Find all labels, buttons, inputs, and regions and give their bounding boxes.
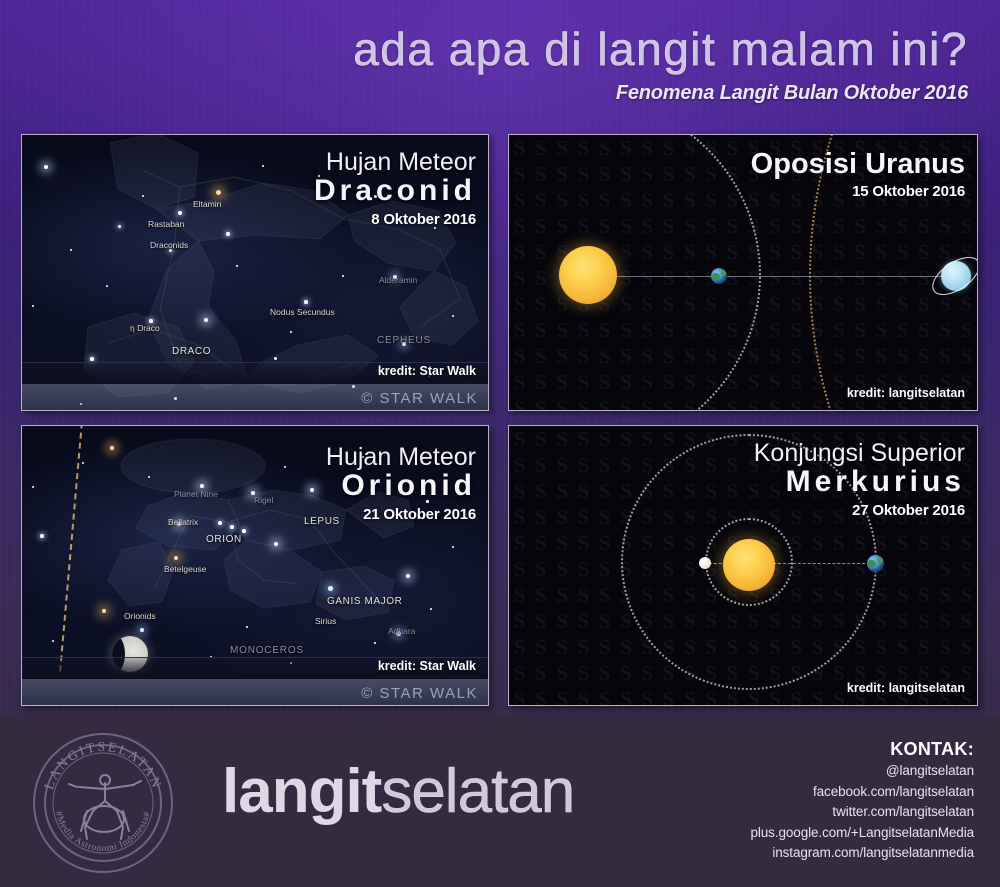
langitselatan-logo[interactable]: LANGITSELATAN #Media Astronomi Indonesia… (33, 733, 173, 873)
star (430, 608, 432, 610)
watermark-s: S (594, 426, 615, 452)
watermark-s: S (615, 426, 636, 452)
star (90, 357, 94, 361)
watermark-s: S (871, 634, 892, 660)
watermark-s: S (509, 634, 530, 660)
watermark-s: S (786, 239, 807, 265)
contact-link-instagram-handle[interactable]: @langitselatan (750, 761, 974, 782)
star-betelgeuse (174, 556, 178, 560)
star (406, 574, 410, 578)
wordmark-light: selatan (381, 757, 574, 826)
earth (711, 268, 727, 284)
watermark-s: S (552, 634, 573, 660)
label-orionids: Orionids (124, 611, 156, 621)
star (40, 534, 44, 538)
watermark-s: S (786, 317, 807, 343)
watermark-s: S (956, 556, 977, 582)
label-draconids: Draconids (150, 240, 188, 250)
star (44, 165, 48, 169)
star-lepus (310, 488, 314, 492)
watermark-s: S (786, 291, 807, 317)
watermark-s: S (573, 478, 594, 504)
mercury (699, 557, 711, 569)
watermark-s: S (786, 369, 807, 395)
panel-uranus-heading: Oposisi Uranus 15 Oktober 2016 (751, 149, 965, 204)
watermark-s: S (764, 265, 785, 291)
star (106, 285, 108, 287)
star (290, 331, 292, 333)
panel-draconid-date: 8 Oktober 2016 (314, 208, 476, 232)
panel-merkurius-kind: Konjungsi Superior (754, 440, 965, 466)
star (102, 609, 106, 613)
watermark-s: S (807, 686, 828, 705)
watermark-s: S (956, 582, 977, 608)
watermark-s: S (573, 452, 594, 478)
label-cepheus: CEPHEUS (377, 335, 431, 346)
watermark-s: S (594, 556, 615, 582)
watermark-s: S (934, 530, 955, 556)
star-eta-draco (149, 319, 153, 323)
watermark-s: S (913, 556, 934, 582)
brand-wordmark: langitselatan (222, 761, 574, 823)
label-betelgeuse: Betelgeuse (164, 564, 207, 574)
panel-draconid-credit: kredit: Star Walk (378, 364, 476, 378)
watermark-s: S (530, 426, 551, 452)
watermark-s: S (786, 395, 807, 410)
panel-orionid-heading: Hujan Meteor Orionid 21 Oktober 2016 (326, 444, 476, 527)
watermark-s: S (552, 452, 573, 478)
watermark-s: S (509, 530, 530, 556)
watermark-s: S (764, 343, 785, 369)
watermark-s: S (594, 504, 615, 530)
label-monoceros: MONOCEROS (230, 645, 304, 656)
watermark-s: S (637, 686, 658, 705)
watermark-s: S (679, 686, 700, 705)
watermark-s: S (509, 504, 530, 530)
watermark-s: S (892, 556, 913, 582)
watermark-s: S (530, 660, 551, 686)
watermark-s: S (764, 213, 785, 239)
watermark-s: S (573, 634, 594, 660)
watermark-s: S (871, 608, 892, 634)
star-rastaban (178, 211, 182, 215)
star-eltamin (216, 190, 221, 195)
watermark-s: S (786, 686, 807, 705)
contact-link-facebook[interactable]: facebook.com/langitselatan (750, 782, 974, 803)
watermark-s: S (509, 608, 530, 634)
page-subtitle: Fenomena Langit Bulan Oktober 2016 (616, 82, 968, 105)
panel-orionid[interactable]: Planet Nine Bellatrix Rigel LEPUS ORION … (21, 425, 489, 706)
earth (867, 555, 884, 572)
star-orion-belt (242, 529, 246, 533)
watermark-s: S (573, 556, 594, 582)
watermark-s: S (530, 608, 551, 634)
star (374, 642, 376, 644)
watermark-s: S (530, 504, 551, 530)
star (52, 640, 54, 642)
star (32, 305, 34, 307)
watermark-s: S (764, 291, 785, 317)
watermark-s: S (722, 135, 743, 161)
watermark-s: S (913, 582, 934, 608)
watermark-s: S (573, 530, 594, 556)
star (246, 626, 248, 628)
watermark-s: S (934, 608, 955, 634)
panel-orionid-kind: Hujan Meteor (326, 444, 476, 470)
label-nodus-secundus: Nodus Secundus (270, 307, 335, 317)
poster-header: ada apa di langit malam ini? Fenomena La… (0, 0, 1000, 122)
watermark-s: S (658, 686, 679, 705)
watermark-s: S (552, 608, 573, 634)
watermark-s: S (764, 395, 785, 410)
star (70, 249, 72, 251)
panel-draconid-name: Draconid (314, 175, 476, 207)
star-nodus-secundus (304, 300, 308, 304)
watermark-s: S (573, 686, 594, 705)
label-adhara: Adhara (388, 626, 415, 636)
label-rastaban: Rastaban (148, 219, 184, 229)
panel-draconid[interactable]: Eltamin Rastaban Draconids η Draco DRACO… (21, 134, 489, 411)
starwalk-watermark: © STAR WALK (361, 390, 478, 407)
panel-uranus-credit: kredit: langitselatan (847, 386, 965, 400)
panel-merkurius-credit: kredit: langitselatan (847, 681, 965, 695)
watermark-s: S (552, 582, 573, 608)
star (148, 476, 150, 478)
watermark-s: S (934, 582, 955, 608)
contact-link-twitter[interactable]: twitter.com/langitselatan (750, 802, 974, 823)
watermark-s: S (530, 478, 551, 504)
star (236, 265, 238, 267)
watermark-s: S (552, 478, 573, 504)
watermark-s: S (615, 660, 636, 686)
watermark-s: S (509, 660, 530, 686)
wordmark-bold: langit (222, 757, 381, 826)
panel-merkurius[interactable]: SSSSSSSSSSSSSSSSSSSSSSSSSSSSSSSSSSSSSSSS… (508, 425, 978, 706)
star-orionids-radiant (140, 628, 144, 632)
watermark-s: S (552, 556, 573, 582)
watermark-s: S (743, 343, 764, 369)
watermark-s: S (552, 530, 573, 556)
contact-link-instagram[interactable]: instagram.com/langitselatanmedia (750, 843, 974, 864)
star (32, 486, 34, 488)
watermark-s: S (934, 556, 955, 582)
watermark-s: S (573, 608, 594, 634)
contact-block: KONTAK: @langitselatan facebook.com/lang… (750, 737, 974, 864)
star (284, 466, 286, 468)
opposition-alignment-line (601, 276, 949, 277)
star (274, 357, 277, 360)
watermark-s: S (573, 504, 594, 530)
label-sirius: Sirius (315, 616, 336, 626)
watermark-s: S (594, 582, 615, 608)
watermark-s: S (743, 395, 764, 410)
label-eta-draco: η Draco (130, 323, 160, 333)
watermark-s: S (552, 686, 573, 705)
star (204, 318, 208, 322)
watermark-s: S (913, 530, 934, 556)
watermark-s: S (509, 556, 530, 582)
star (342, 275, 344, 277)
star (452, 315, 454, 317)
watermark-s: S (573, 660, 594, 686)
contact-heading: KONTAK: (750, 737, 974, 761)
watermark-s: S (892, 608, 913, 634)
watermark-s: S (573, 582, 594, 608)
panel-uranus[interactable]: SSSSSSSSSSSSSSSSSSSSSSSSSSSSSSSSSSSSSSSS… (508, 134, 978, 411)
watermark-s: S (615, 686, 636, 705)
watermark-s: S (594, 660, 615, 686)
watermark-s: S (786, 265, 807, 291)
watermark-s: S (764, 317, 785, 343)
label-orion: ORION (206, 534, 242, 545)
panel-uranus-date: 15 Oktober 2016 (751, 180, 965, 204)
sun (723, 539, 775, 591)
watermark-s: S (637, 426, 658, 452)
watermark-s: S (594, 530, 615, 556)
watermark-s: S (956, 608, 977, 634)
watermark-s: S (594, 452, 615, 478)
watermark-s: S (594, 634, 615, 660)
watermark-s: S (786, 343, 807, 369)
watermark-s: S (530, 556, 551, 582)
watermark-s: S (913, 634, 934, 660)
watermark-s: S (552, 426, 573, 452)
watermark-s: S (573, 426, 594, 452)
star (274, 542, 278, 546)
panel-merkurius-heading: Konjungsi Superior Merkurius 27 Oktober … (754, 440, 965, 523)
watermark-s: S (637, 660, 658, 686)
watermark-s: S (530, 686, 551, 705)
watermark-s: S (849, 634, 870, 660)
watermark-s: S (892, 582, 913, 608)
watermark-s: S (594, 686, 615, 705)
watermark-s: S (615, 452, 636, 478)
label-draco: DRACO (172, 346, 211, 357)
watermark-s: S (530, 530, 551, 556)
panel-uranus-name: Oposisi Uranus (751, 149, 965, 180)
panel-draconid-heading: Hujan Meteor Draconid 8 Oktober 2016 (314, 149, 476, 232)
watermark-s: S (530, 634, 551, 660)
watermark-s: S (530, 452, 551, 478)
watermark-s: S (913, 608, 934, 634)
watermark-s: S (764, 239, 785, 265)
panel-orionid-credit: kredit: Star Walk (378, 659, 476, 673)
poster-footer: LANGITSELATAN #Media Astronomi Indonesia… (0, 715, 1000, 887)
watermark-s: S (764, 686, 785, 705)
watermark-s: S (530, 582, 551, 608)
watermark-s: S (509, 426, 530, 452)
star (452, 546, 454, 548)
panel-draconid-kind: Hujan Meteor (314, 149, 476, 175)
watermark-s: S (956, 530, 977, 556)
watermark-s: S (594, 608, 615, 634)
star-orion-belt (218, 521, 222, 525)
watermark-s: S (594, 478, 615, 504)
watermark-s: S (892, 634, 913, 660)
panel-orionid-date: 21 Oktober 2016 (326, 503, 476, 527)
star-sirius (328, 586, 333, 591)
watermark-s: S (552, 504, 573, 530)
watermark-s: S (764, 369, 785, 395)
label-planet-nine: Planet Nine (174, 489, 218, 499)
contact-link-googleplus[interactable]: plus.google.com/+LangitselatanMedia (750, 823, 974, 844)
watermark-s: S (552, 660, 573, 686)
star-orion-belt (230, 525, 234, 529)
watermark-s: S (743, 369, 764, 395)
watermark-s: S (786, 213, 807, 239)
watermark-s: S (615, 634, 636, 660)
watermark-s: S (509, 478, 530, 504)
starwalk-watermark: © STAR WALK (361, 685, 478, 702)
label-eltamin: Eltamin (193, 199, 221, 209)
label-bellatrix: Bellatrix (168, 517, 198, 527)
watermark-s: S (509, 452, 530, 478)
watermark-s: S (934, 634, 955, 660)
star (110, 446, 114, 450)
watermark-s: S (509, 582, 530, 608)
watermark-s: S (956, 634, 977, 660)
star-planet-nine (200, 484, 204, 488)
panel-orionid-name: Orionid (326, 470, 476, 502)
watermark-s: S (700, 686, 721, 705)
label-ganis-major: GANIS MAJOR (327, 596, 403, 607)
star (226, 232, 230, 236)
watermark-s: S (509, 686, 530, 705)
panel-merkurius-name: Merkurius (754, 466, 965, 498)
page-title: ada apa di langit malam ini? (353, 22, 968, 76)
star (82, 462, 84, 464)
label-rigel: Rigel (254, 495, 273, 505)
star (142, 195, 144, 197)
watermark-s: S (892, 530, 913, 556)
panel-merkurius-date: 27 Oktober 2016 (754, 499, 965, 523)
label-alderamin: Alderamin (379, 275, 417, 285)
sun (559, 246, 617, 304)
watermark-s: S (615, 478, 636, 504)
star (118, 225, 121, 228)
star (262, 165, 264, 167)
watermark-s: S (722, 395, 743, 410)
watermark-s: S (658, 426, 679, 452)
